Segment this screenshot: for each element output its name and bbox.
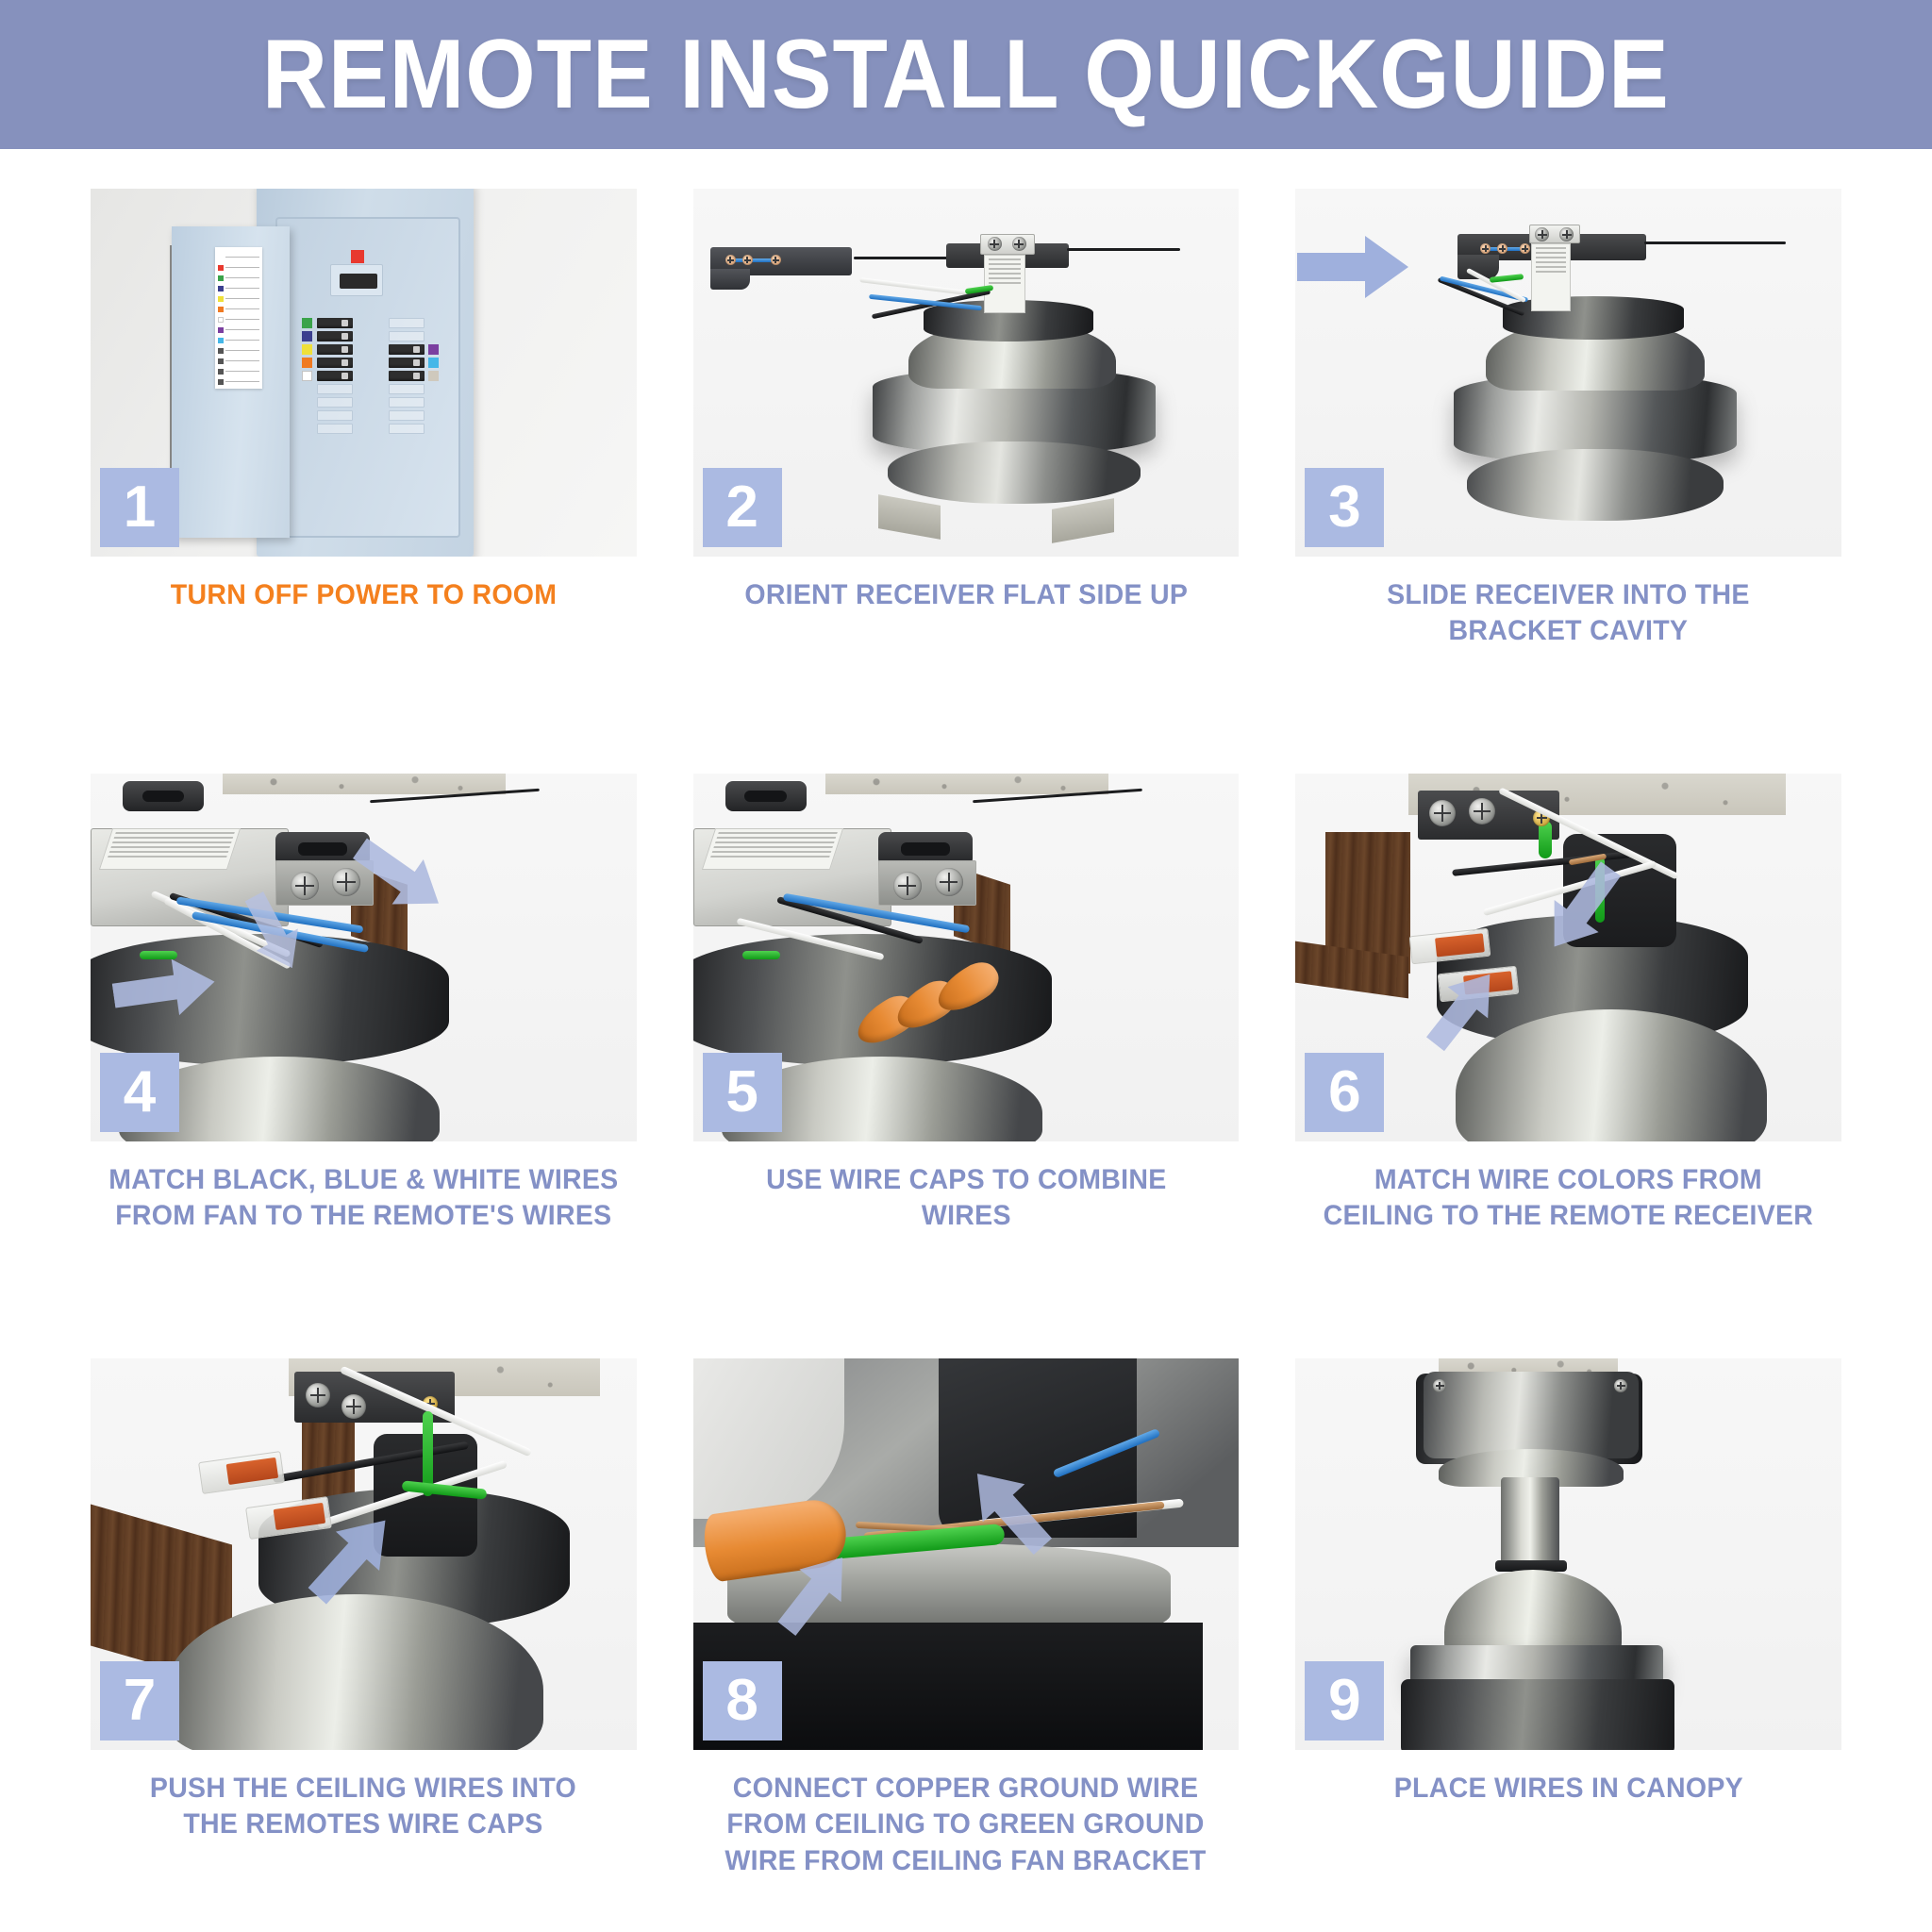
terminal-dot: [725, 255, 736, 265]
downrod: [1501, 1477, 1559, 1568]
receiver-mount-tab: [123, 781, 204, 811]
ceiling-surface: [223, 774, 506, 794]
receiver-tab: [710, 269, 750, 290]
step-caption: USE WIRE CAPS TO COMBINE WIRES: [766, 1162, 1166, 1235]
step-photo-6: 6: [1295, 774, 1841, 1141]
breaker-switch: [389, 371, 425, 381]
breaker-switch: [317, 344, 353, 355]
circuit-tag: [302, 318, 312, 328]
circuit-tag: [302, 331, 312, 341]
circuit-tag: [302, 358, 312, 368]
step-caption: SLIDE RECEIVER INTO THE BRACKET CAVITY: [1387, 577, 1750, 650]
step-cell-6: 6 MATCH WIRE COLORS FROM CEILING TO THE …: [1295, 774, 1841, 1358]
step-number-badge: 7: [100, 1661, 179, 1740]
receiver-mount-tab: [725, 781, 807, 811]
breaker-switch: [389, 358, 425, 368]
antenna-wire: [1644, 241, 1786, 244]
breaker-slot: [389, 318, 425, 328]
breaker-slot: [317, 424, 353, 434]
step-number-badge: 3: [1305, 468, 1384, 547]
step-caption: PUSH THE CEILING WIRES INTO THE REMOTES …: [150, 1771, 576, 1843]
breaker-slot: [389, 384, 425, 394]
step-caption: ORIENT RECEIVER FLAT SIDE UP: [744, 577, 1188, 613]
bracket-screw: [306, 1383, 330, 1407]
step-caption: CONNECT COPPER GROUND WIRE FROM CEILING …: [725, 1771, 1207, 1879]
circuit-tag: [302, 344, 312, 355]
page-title: REMOTE INSTALL QUICKGUIDE: [262, 19, 1670, 131]
receiver-label-sticker: [702, 828, 843, 870]
circuit-directory-label: [215, 247, 262, 389]
fan-lower-housing: [888, 441, 1141, 504]
step-cell-2: 2 ORIENT RECEIVER FLAT SIDE UP: [693, 189, 1240, 774]
step-photo-8: 8: [693, 1358, 1240, 1750]
step-cell-7: 7 PUSH THE CEILING WIRES INTO THE REMOTE…: [91, 1358, 637, 1932]
breaker-switch: [317, 358, 353, 368]
breaker-switch: [389, 344, 425, 355]
breaker-switch: [317, 331, 353, 341]
canopy-body: [1424, 1372, 1639, 1458]
main-breaker-switch: [340, 274, 377, 289]
step-caption: MATCH BLACK, BLUE & WHITE WIRES FROM FAN…: [108, 1162, 618, 1235]
step-photo-4: 4: [91, 774, 637, 1141]
directory-row: [218, 357, 259, 365]
step-cell-4: 4 MATCH BLACK, BLUE & WHITE WIRES FROM F…: [91, 774, 637, 1358]
breaker-slot: [389, 397, 425, 408]
step-number-badge: 4: [100, 1053, 179, 1132]
step-photo-5: 5: [693, 774, 1240, 1141]
directory-row: [218, 263, 259, 272]
directory-row: [218, 346, 259, 355]
step-photo-9: 9: [1295, 1358, 1841, 1750]
breaker-switch: [317, 318, 353, 328]
breaker-slot: [317, 410, 353, 421]
step-cell-3: 3 SLIDE RECEIVER INTO THE BRACKET CAVITY: [1295, 189, 1841, 774]
receiver-label-sticker: [99, 828, 241, 870]
directory-row: [218, 325, 259, 334]
bracket-screw: [341, 1394, 366, 1419]
breaker-slot: [317, 397, 353, 408]
push-in-connector: [198, 1451, 285, 1494]
directory-row: [218, 315, 259, 324]
breaker-slot: [389, 331, 425, 341]
steps-grid: 1 TURN OFF POWER TO ROOM: [0, 149, 1932, 1932]
directory-row: [218, 294, 259, 303]
bracket-screw: [893, 872, 922, 900]
step-number-badge: 1: [100, 468, 179, 547]
page-header: REMOTE INSTALL QUICKGUIDE: [0, 0, 1932, 149]
directory-row: [218, 253, 259, 261]
bracket-screw: [1012, 237, 1026, 251]
terminal-dot: [742, 255, 753, 265]
breaker-slot: [389, 410, 425, 421]
terminal-dot: [771, 255, 781, 265]
circuit-tag: [302, 371, 312, 381]
step-caption: TURN OFF POWER TO ROOM: [171, 577, 557, 613]
fan-lower-housing: [1467, 449, 1724, 521]
step-photo-1: 1: [91, 189, 637, 557]
step-caption: MATCH WIRE COLORS FROM CEILING TO THE RE…: [1324, 1162, 1814, 1235]
step-photo-7: 7: [91, 1358, 637, 1750]
fan-motor-housing: [1401, 1679, 1674, 1750]
wire-green-ground: [1539, 821, 1552, 858]
breaker-slot: [317, 384, 353, 394]
step-cell-8: 8 CONNECT COPPER GROUND WIRE FROM CEILIN…: [693, 1358, 1240, 1932]
step-cell-1: 1 TURN OFF POWER TO ROOM: [91, 189, 637, 774]
step-number-badge: 6: [1305, 1053, 1384, 1132]
step-photo-2: 2: [693, 189, 1240, 557]
breaker-switch: [317, 371, 353, 381]
breaker-column-left: [317, 318, 353, 434]
quickguide-page: REMOTE INSTALL QUICKGUIDE: [0, 0, 1932, 1932]
step-number-badge: 2: [703, 468, 782, 547]
directory-row: [218, 305, 259, 313]
direction-arrow-icon: [1297, 234, 1410, 300]
directory-row: [218, 367, 259, 375]
breaker-panel-inner: [275, 217, 460, 538]
ceiling-surface: [825, 774, 1108, 794]
main-breaker-indicator: [351, 250, 364, 263]
bracket-screw: [988, 237, 1002, 251]
breaker-panel-door: [172, 226, 290, 538]
breaker-slot: [389, 424, 425, 434]
mounting-ball-ring: [1503, 296, 1684, 340]
antenna-wire: [1067, 248, 1180, 251]
step-cell-5: 5 USE WIRE CAPS TO COMBINE WIRES: [693, 774, 1240, 1358]
step-photo-3: 3: [1295, 189, 1841, 557]
directory-row: [218, 377, 259, 386]
directory-row: [218, 336, 259, 344]
circuit-tag: [428, 371, 439, 381]
step-cell-9: 9 PLACE WIRES IN CANOPY: [1295, 1358, 1841, 1932]
receiver-label-sticker: [984, 255, 1025, 313]
receiver-label-sticker: [1531, 243, 1571, 311]
motor-coupling-cone: [1444, 1570, 1622, 1657]
fan-blade: [878, 494, 941, 540]
fan-blade: [1052, 498, 1114, 543]
step-number-badge: 8: [703, 1661, 782, 1740]
circuit-tag: [428, 358, 439, 368]
step-caption: PLACE WIRES IN CANOPY: [1394, 1771, 1743, 1807]
bracket-screw: [291, 872, 319, 900]
wire-green-ground: [742, 951, 780, 959]
step-number-badge: 9: [1305, 1661, 1384, 1740]
directory-row: [218, 274, 259, 282]
circuit-tag: [428, 344, 439, 355]
breaker-column-right: [389, 318, 425, 434]
bracket-screw: [935, 868, 963, 896]
directory-row: [218, 284, 259, 292]
step-number-badge: 5: [703, 1053, 782, 1132]
